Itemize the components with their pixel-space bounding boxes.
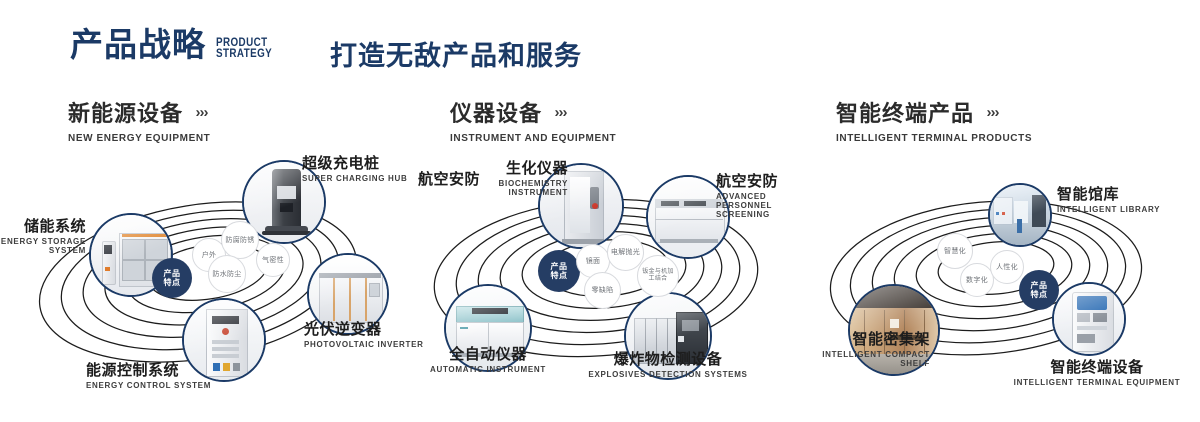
feature-bubble-digitalization[interactable]: 数字化	[960, 263, 994, 297]
feature-bubble-zero-defect[interactable]: 零缺陷	[584, 272, 621, 309]
section-title-en: INSTRUMENT AND EQUIPMENT	[450, 133, 616, 144]
feature-bubble-intelligence[interactable]: 智慧化	[937, 233, 973, 269]
section-title-instrument: 仪器设备 ››› INSTRUMENT AND EQUIPMENT	[450, 96, 616, 144]
feature-bubble-label: 人性化	[996, 263, 1018, 271]
label-cn: 能源控制系统	[86, 359, 211, 380]
core-bubble-intelligent-terminal[interactable]: 产品特点	[1019, 270, 1059, 310]
chevron-right-icon: ›››	[986, 104, 998, 121]
feature-bubble-label: 电解抛光	[611, 248, 640, 256]
label-energy-control-system: 能源控制系统 ENERGY CONTROL SYSTEM	[86, 359, 211, 390]
feature-bubble-humanization[interactable]: 人性化	[990, 250, 1024, 284]
section-title-new-energy: 新能源设备 ››› NEW ENERGY EQUIPMENT	[68, 96, 210, 144]
page-tagline: 打造无敌产品和服务	[330, 34, 582, 73]
label-en: INTELLIGENT COMPACTSHELF	[790, 350, 930, 368]
core-bubble-label: 产品特点	[551, 262, 568, 280]
label-en: BIOCHEMISTRYINSTRUMENT	[418, 179, 568, 197]
section-title-en: NEW ENERGY EQUIPMENT	[68, 133, 210, 144]
feature-bubble-airtight[interactable]: 气密性	[256, 243, 290, 277]
feature-bubble-label: 防腐防锈	[225, 236, 254, 244]
feature-bubble-label: 气密性	[262, 256, 284, 264]
label-en: EXPLOSIVES DETECTION SYSTEMS	[578, 370, 758, 379]
core-bubble-label: 产品特点	[164, 269, 181, 287]
feature-bubble-label: 镜面	[586, 257, 601, 265]
label-intelligent-library: 智能馆库 INTELLIGENT LIBRARY	[1057, 183, 1160, 214]
chevron-right-icon: ›››	[554, 104, 566, 121]
feature-bubble-label: 户外	[202, 251, 217, 259]
label-cn: 智能终端设备	[997, 356, 1197, 377]
feature-bubble-sheet-metal-machining[interactable]: 钣金与机加工结合	[637, 255, 679, 297]
core-bubble-label: 产品特点	[1031, 281, 1048, 299]
diagram-instrument: 产品特点 镜面 电解抛光 零缺陷 钣金与机加工结合 航空安防 生化仪器 BIOC…	[398, 150, 818, 410]
node-intelligent-terminal-equipment[interactable]	[1052, 282, 1126, 356]
label-cn: 储能系统	[0, 215, 86, 236]
label-en: ENERGY STORAGESYSTEM	[0, 237, 86, 255]
feature-bubble-waterproof[interactable]: 防水防尘	[208, 255, 246, 293]
label-cn: 爆炸物检测设备	[578, 348, 758, 369]
section-title-intelligent-terminal: 智能终端产品 ››› INTELLIGENT TERMINAL PRODUCTS	[836, 96, 1032, 144]
section-title-en: INTELLIGENT TERMINAL PRODUCTS	[836, 133, 1032, 144]
chevron-right-icon: ›››	[195, 104, 207, 121]
feature-bubble-label: 数字化	[966, 276, 988, 284]
section-title-cn: 仪器设备	[450, 96, 542, 128]
label-explosives-detection: 爆炸物检测设备 EXPLOSIVES DETECTION SYSTEMS	[578, 348, 758, 379]
diagram-intelligent-terminal: 智慧化 数字化 人性化 产品特点 智能馆库 INTELLIGENT LIBRAR…	[800, 150, 1200, 410]
label-cn: 全自动仪器	[408, 343, 568, 364]
feature-bubble-label: 零缺陷	[592, 286, 614, 294]
feature-bubble-label: 防水防尘	[212, 270, 241, 278]
core-bubble-instrument[interactable]: 产品特点	[538, 250, 580, 292]
section-title-cn: 新能源设备	[68, 96, 183, 128]
self-service-kiosk-icon	[1054, 284, 1124, 354]
section-title-cn: 智能终端产品	[836, 96, 974, 128]
label-intelligent-terminal-equipment: 智能终端设备 INTELLIGENT TERMINAL EQUIPMENT	[997, 356, 1197, 387]
poster-canvas: 产品战略 PRODUCT STRATEGY 打造无敌产品和服务 新能源设备 ››…	[0, 0, 1200, 422]
page-title-en-line2: STRATEGY	[216, 46, 272, 60]
feature-bubble-label: 智慧化	[944, 247, 966, 255]
label-en: AUTOMATIC INSTRUMENT	[408, 365, 568, 374]
label-energy-storage: 储能系统 ENERGY STORAGESYSTEM	[0, 215, 86, 255]
label-cn: 智能密集架	[790, 328, 930, 349]
label-intelligent-compact-shelf: 智能密集架 INTELLIGENT COMPACTSHELF	[790, 328, 930, 368]
library-interior-icon	[990, 185, 1050, 245]
page-header: 产品战略 PRODUCT STRATEGY	[70, 28, 284, 61]
page-title: 产品战略	[70, 28, 206, 61]
label-en: INTELLIGENT LIBRARY	[1057, 205, 1160, 214]
label-biochemistry-instrument: 生化仪器 BIOCHEMISTRYINSTRUMENT	[418, 157, 568, 197]
feature-bubble-anticorrosion[interactable]: 防腐防锈	[221, 221, 259, 259]
label-cn: 智能馆库	[1057, 183, 1160, 204]
label-cn: 生化仪器	[418, 157, 568, 178]
feature-bubble-label: 钣金与机加工结合	[640, 269, 676, 283]
label-en: INTELLIGENT TERMINAL EQUIPMENT	[997, 378, 1197, 387]
page-title-en: PRODUCT STRATEGY	[216, 37, 272, 59]
label-automatic-instrument: 全自动仪器 AUTOMATIC INSTRUMENT	[408, 343, 568, 374]
label-en: ENERGY CONTROL SYSTEM	[86, 381, 211, 390]
node-intelligent-library[interactable]	[988, 183, 1052, 247]
diagram-new-energy: 产品特点 户外 防腐防锈 防水防尘 气密性 储能系统 ENERGY STORAG…	[0, 150, 420, 410]
core-bubble-new-energy[interactable]: 产品特点	[152, 258, 192, 298]
